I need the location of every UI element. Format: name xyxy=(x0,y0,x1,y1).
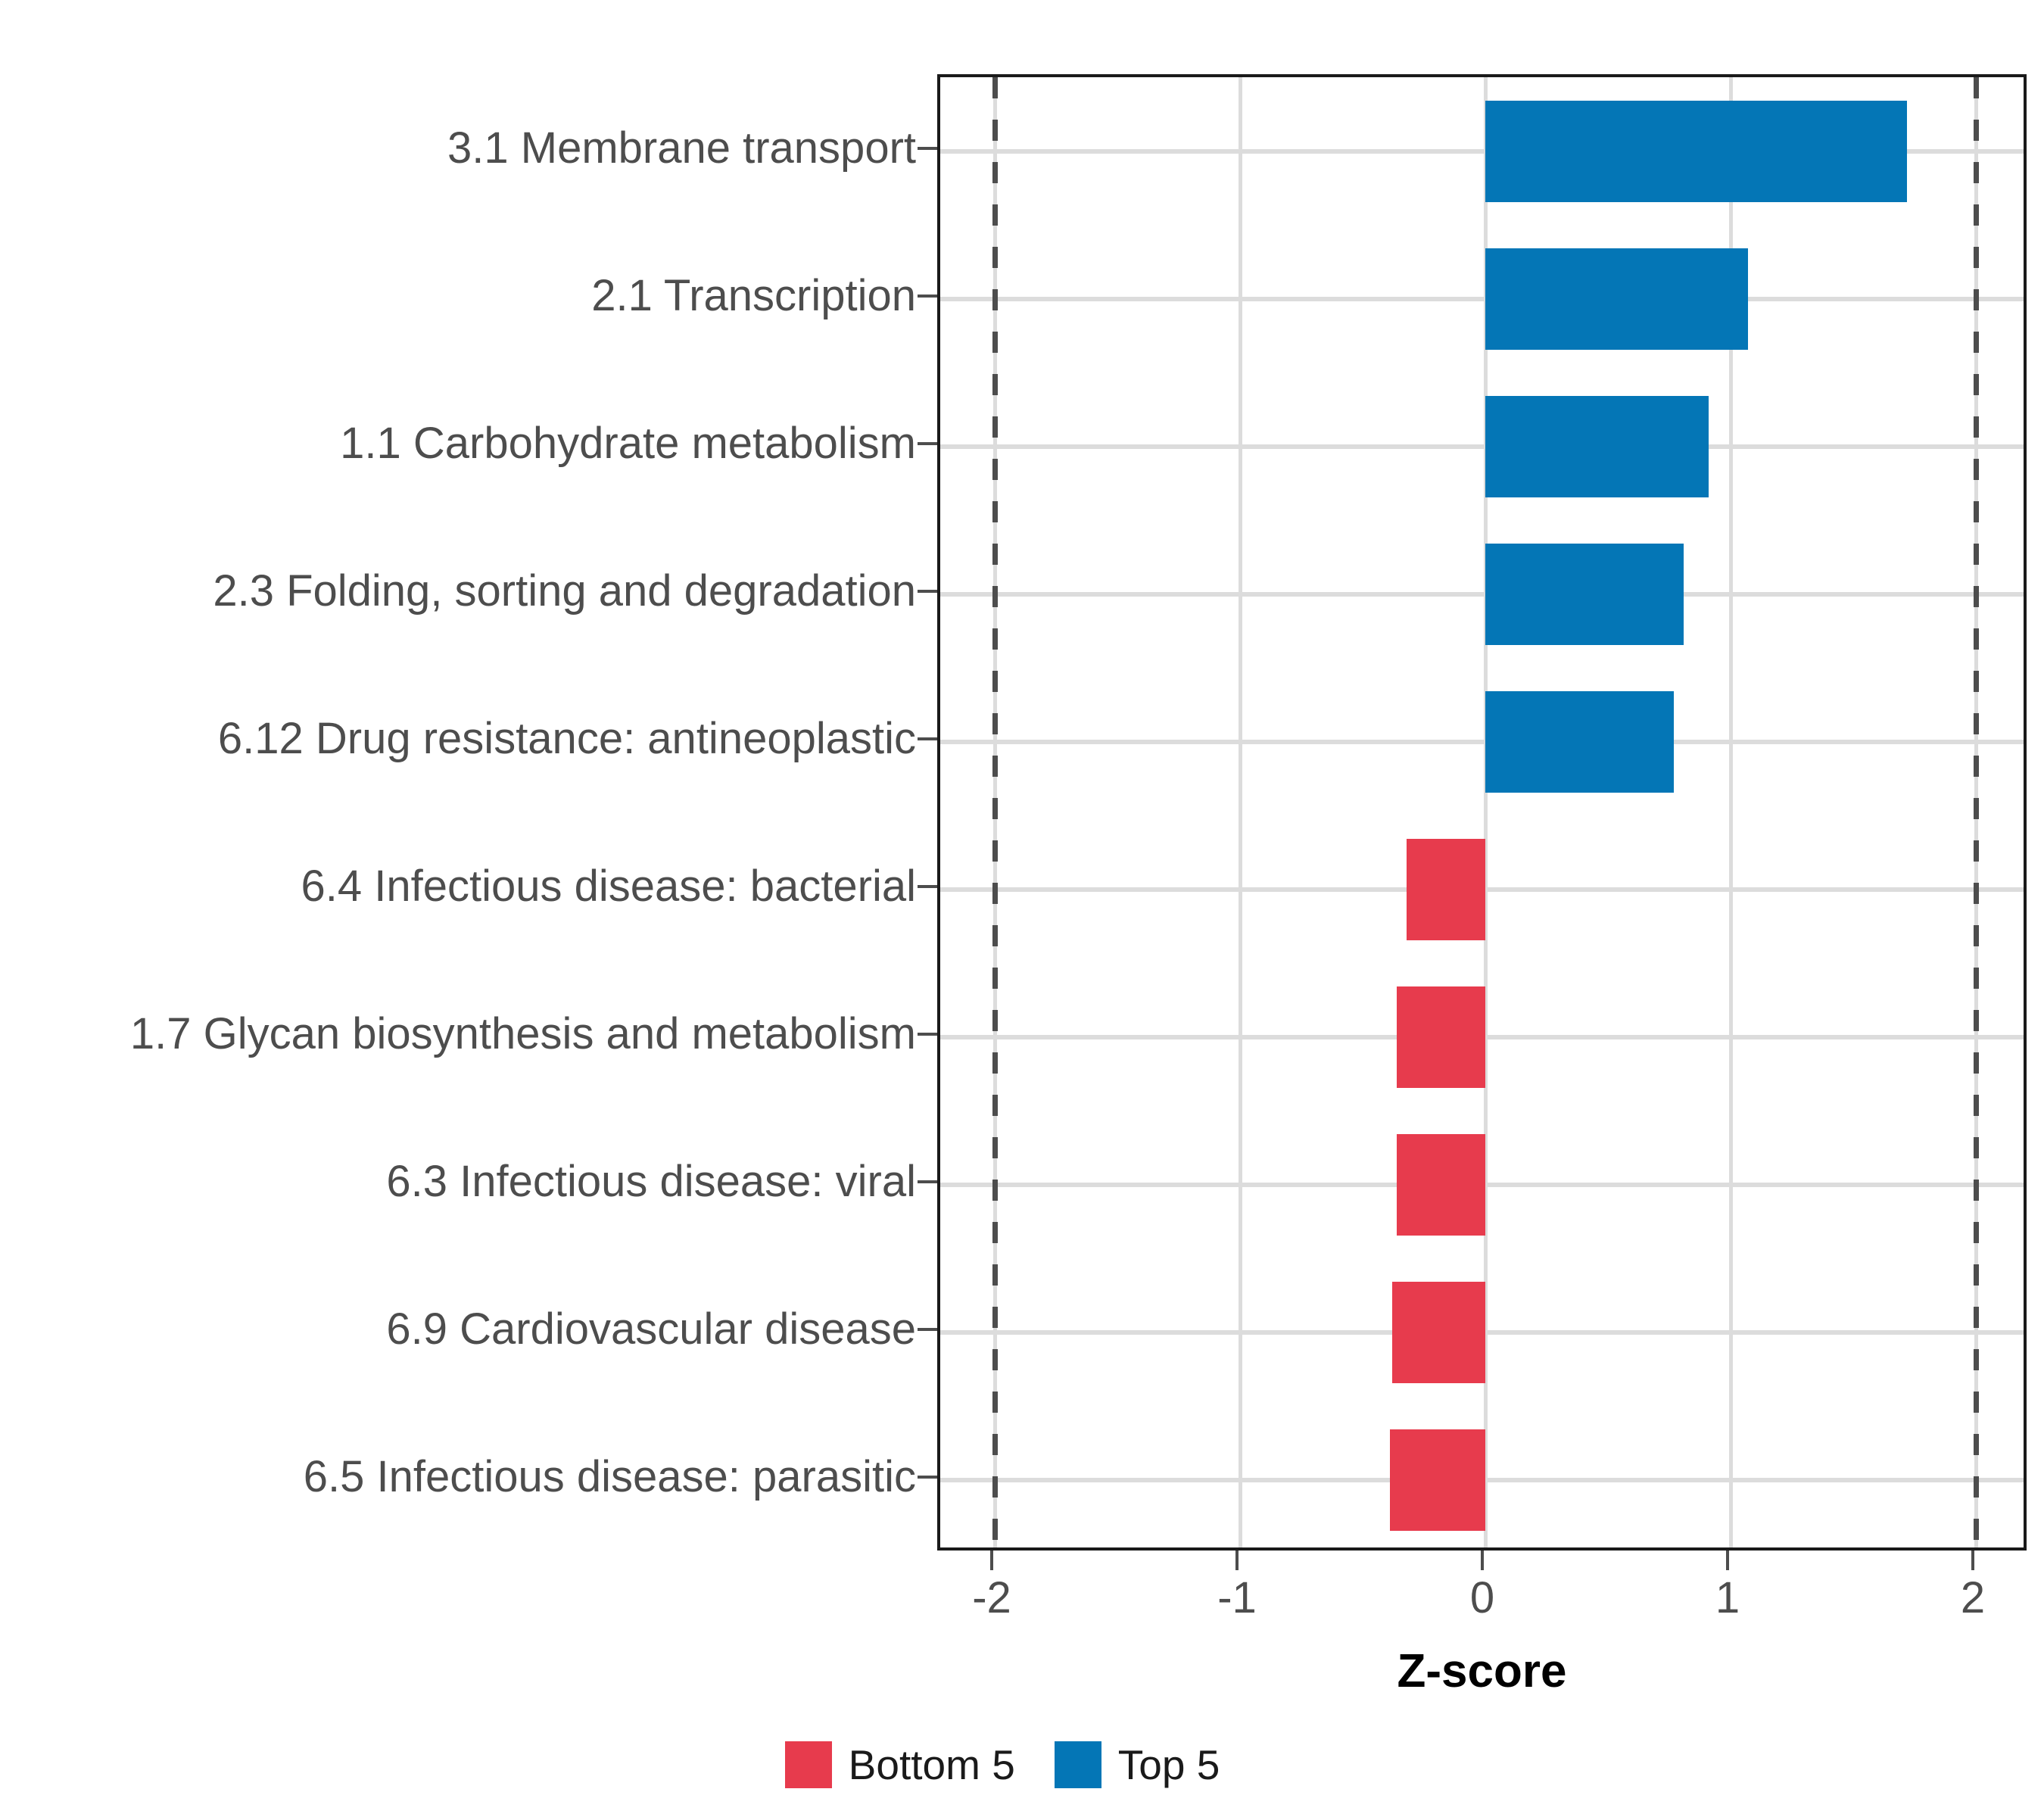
y-axis-tick-mark xyxy=(918,1180,937,1183)
legend-label: Top 5 xyxy=(1118,1741,1220,1788)
y-axis-tick-mark xyxy=(918,737,937,740)
y-axis-tick-mark xyxy=(918,1328,937,1331)
y-axis-tick-label: 6.9 Cardiovascular disease xyxy=(0,1304,916,1354)
chart-legend: Bottom 5Top 5 xyxy=(0,1741,2044,1788)
gridline-horizontal xyxy=(940,444,2024,449)
legend-item[interactable]: Bottom 5 xyxy=(785,1741,1055,1788)
gridline-horizontal xyxy=(940,297,2024,301)
y-axis-tick-label: 6.4 Infectious disease: bacterial xyxy=(0,861,916,912)
bar xyxy=(1485,544,1684,645)
y-axis-tick-label: 2.1 Transcription xyxy=(0,270,916,321)
x-axis-tick-label: -2 xyxy=(916,1576,1067,1620)
x-axis-tick-label: 0 xyxy=(1407,1576,1558,1620)
bar xyxy=(1407,839,1485,940)
bar xyxy=(1485,101,1907,202)
bar xyxy=(1485,691,1674,793)
x-axis-tick-mark xyxy=(1971,1551,1974,1570)
x-axis-tick-label: 1 xyxy=(1652,1576,1803,1620)
y-axis-tick-label: 2.3 Folding, sorting and degradation xyxy=(0,566,916,616)
z-score-bar-chart: 3.1 Membrane transport2.1 Transcription1… xyxy=(0,0,2044,1817)
y-axis-tick-mark xyxy=(918,885,937,888)
x-axis-title: Z-score xyxy=(937,1644,2027,1698)
gridline-horizontal xyxy=(940,740,2024,744)
reference-line xyxy=(1974,77,1979,1547)
y-axis-tick-mark xyxy=(918,442,937,445)
x-axis-tick-mark xyxy=(1726,1551,1729,1570)
bar xyxy=(1392,1282,1485,1383)
bar xyxy=(1397,1134,1485,1236)
legend-item[interactable]: Top 5 xyxy=(1055,1741,1260,1788)
x-axis-tick-label: 2 xyxy=(1897,1576,2044,1620)
y-axis-tick-label: 1.7 Glycan biosynthesis and metabolism xyxy=(0,1008,916,1059)
x-axis-tick-mark xyxy=(1235,1551,1239,1570)
x-axis-tick-mark xyxy=(1481,1551,1484,1570)
y-axis-tick-label: 3.1 Membrane transport xyxy=(0,123,916,173)
y-axis-tick-mark xyxy=(918,1033,937,1036)
legend-label: Bottom 5 xyxy=(849,1741,1015,1788)
legend-swatch xyxy=(785,1741,832,1788)
y-axis-tick-mark xyxy=(918,1476,937,1479)
y-axis-tick-mark xyxy=(918,590,937,593)
y-axis-tick-mark xyxy=(918,295,937,298)
y-axis-tick-mark xyxy=(918,147,937,150)
bar xyxy=(1485,396,1709,497)
reference-line xyxy=(992,77,998,1547)
legend-swatch xyxy=(1055,1741,1101,1788)
y-axis-tick-label: 6.3 Infectious disease: viral xyxy=(0,1156,916,1207)
plot-panel xyxy=(937,74,2027,1551)
y-axis-tick-label: 1.1 Carbohydrate metabolism xyxy=(0,418,916,469)
x-axis-tick-label: -1 xyxy=(1161,1576,1313,1620)
bar xyxy=(1390,1429,1485,1531)
y-axis-tick-label: 6.5 Infectious disease: parasitic xyxy=(0,1451,916,1502)
y-axis-tick-label: 6.12 Drug resistance: antineoplastic xyxy=(0,713,916,764)
bar xyxy=(1485,248,1748,350)
x-axis-tick-mark xyxy=(990,1551,993,1570)
gridline-horizontal xyxy=(940,592,2024,597)
bar xyxy=(1397,986,1485,1088)
